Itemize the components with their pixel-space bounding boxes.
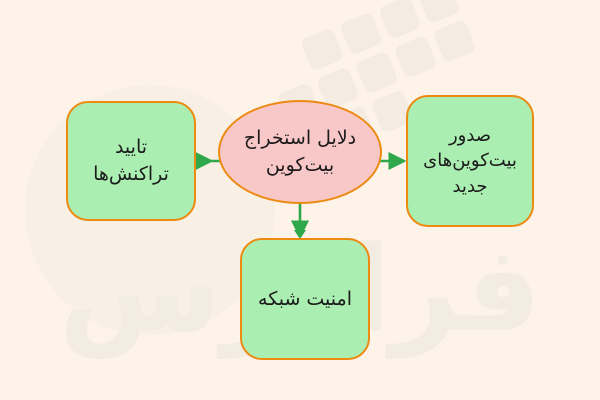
node-transaction-verification[interactable]: تایید تراکنش‌ها — [66, 101, 196, 221]
node-center-label: دلایل استخراج بیت‌کوین — [238, 125, 362, 179]
node-new-bitcoin-issuance[interactable]: صدور بیت‌کوین‌های جدید — [406, 95, 534, 227]
node-network-security[interactable]: امنیت شبکه — [240, 238, 370, 360]
node-right-label: صدور بیت‌کوین‌های جدید — [417, 123, 523, 200]
diagram-canvas: فرادرس دلایل استخراج بیت‌کوین تایید تراک… — [0, 0, 600, 400]
node-center[interactable]: دلایل استخراج بیت‌کوین — [218, 100, 382, 204]
node-bottom-label: امنیت شبکه — [252, 286, 358, 313]
node-left-label: تایید تراکنش‌ها — [87, 134, 175, 188]
